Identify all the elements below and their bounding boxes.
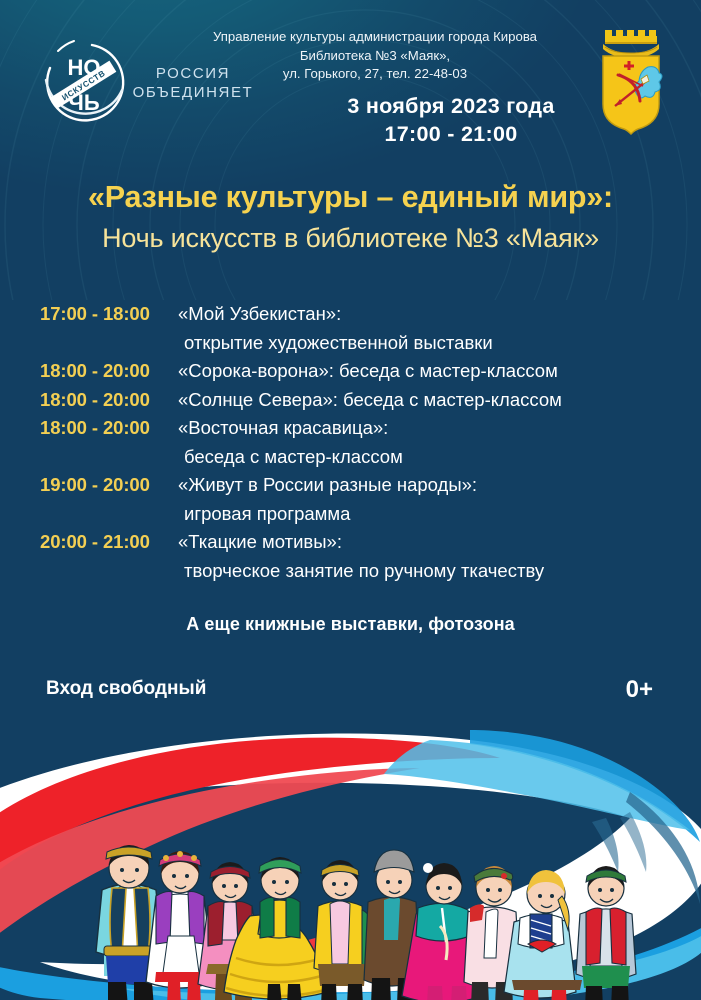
- poster-root: НО ЧЬ ИСКУССТВ РОССИЯ ОБЪЕДИНЯЕТ Управле…: [0, 0, 701, 1000]
- schedule-item: 17:00 - 18:00«Мой Узбекистан»:: [0, 300, 701, 329]
- kirov-coat-of-arms: [596, 28, 666, 146]
- schedule-item-time: 20:00 - 21:00: [40, 528, 178, 557]
- org-line-1: Управление культуры администрации города…: [170, 28, 580, 47]
- event-date: 3 ноября 2023 года: [320, 92, 582, 120]
- org-line-2: Библиотека №3 «Маяк»,: [170, 47, 580, 66]
- schedule-item-description-cont: открытие художественной выставки: [0, 329, 701, 358]
- schedule-item-description: «Ткацкие мотивы»:: [178, 528, 342, 557]
- title-line-2: Ночь искусств в библиотеке №3 «Маяк»: [0, 220, 701, 257]
- schedule-item: 19:00 - 20:00«Живут в России разные наро…: [0, 471, 701, 500]
- schedule-item-time: 18:00 - 20:00: [40, 357, 178, 386]
- noch-iskusstv-logo: НО ЧЬ ИСКУССТВ: [30, 28, 138, 136]
- schedule-list: 17:00 - 18:00«Мой Узбекистан»:открытие х…: [0, 300, 701, 585]
- poster-header: НО ЧЬ ИСКУССТВ РОССИЯ ОБЪЕДИНЯЕТ Управле…: [0, 0, 701, 160]
- schedule-item: 18:00 - 20:00«Сорока-ворона»: беседа с м…: [0, 357, 701, 386]
- organization-info: Управление культуры администрации города…: [170, 28, 580, 84]
- schedule-item: 20:00 - 21:00«Ткацкие мотивы»:: [0, 528, 701, 557]
- schedule-item-description: «Сорока-ворона»: беседа с мастер-классом: [178, 357, 558, 386]
- schedule-item-description: «Живут в России разные народы»:: [178, 471, 477, 500]
- schedule-item-description: «Солнце Севера»: беседа с мастер-классом: [178, 386, 562, 415]
- schedule-item-time: 18:00 - 20:00: [40, 386, 178, 415]
- schedule-item-description-cont: творческое занятие по ручному ткачеству: [0, 557, 701, 586]
- extra-activities-note: А еще книжные выставки, фотозона: [0, 614, 701, 635]
- title-line-1: «Разные культуры – единый мир»:: [0, 178, 701, 216]
- schedule-item-time: 19:00 - 20:00: [40, 471, 178, 500]
- org-line-3: ул. Горького, 27, тел. 22-48-03: [170, 65, 580, 84]
- children-in-national-costumes-illustration: [0, 700, 701, 1000]
- schedule-item-description: «Восточная красавица»:: [178, 414, 388, 443]
- schedule-item-time: 17:00 - 18:00: [40, 300, 178, 329]
- schedule-item: 18:00 - 20:00«Солнце Севера»: беседа с м…: [0, 386, 701, 415]
- free-entry-label: Вход свободный: [46, 678, 206, 700]
- schedule-item-time: 18:00 - 20:00: [40, 414, 178, 443]
- event-datetime: 3 ноября 2023 года 17:00 - 21:00: [320, 92, 582, 148]
- poster-title: «Разные культуры – единый мир»: Ночь иск…: [0, 178, 701, 257]
- slogan-line-2: ОБЪЕДИНЯЕТ: [128, 83, 258, 102]
- event-time: 17:00 - 21:00: [320, 120, 582, 148]
- schedule-item-description-cont: беседа с мастер-классом: [0, 443, 701, 472]
- schedule-item: 18:00 - 20:00«Восточная красавица»:: [0, 414, 701, 443]
- schedule-item-description-cont: игровая программа: [0, 500, 701, 529]
- schedule-item-description: «Мой Узбекистан»:: [178, 300, 341, 329]
